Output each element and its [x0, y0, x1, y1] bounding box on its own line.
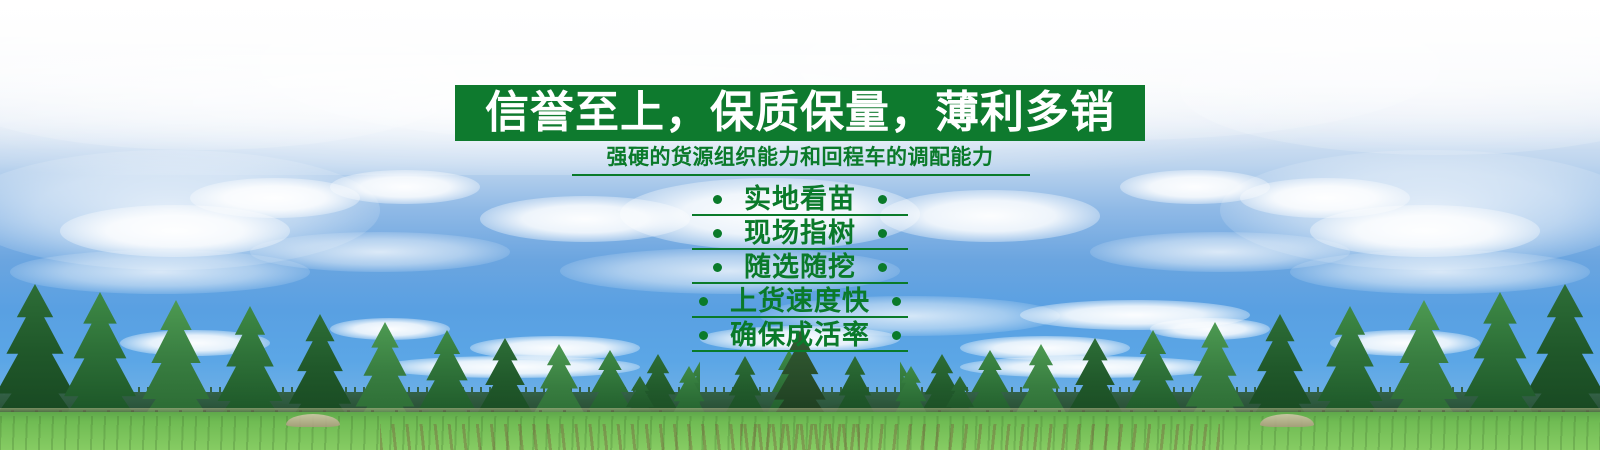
bullet-dot-icon — [699, 331, 708, 340]
bullet-dot-icon — [892, 297, 901, 306]
subtitle-underline — [572, 174, 1030, 176]
feature-label: 确保成活率 — [708, 322, 892, 349]
feature-item: 现场指树 — [0, 216, 1600, 250]
feature-item: 实地看苗 — [0, 182, 1600, 216]
feature-item: 随选随挖 — [0, 250, 1600, 284]
bullet-dot-icon — [878, 195, 887, 204]
banner-subtitle: 强硬的货源组织能力和回程车的调配能力 — [0, 146, 1600, 168]
bullet-dot-icon — [699, 297, 708, 306]
feature-label: 上货速度快 — [708, 288, 892, 315]
feature-item: 确保成活率 — [0, 318, 1600, 352]
bullet-dot-icon — [713, 263, 722, 272]
feature-label: 现场指树 — [722, 220, 878, 247]
promotional-banner: 信誉至上，保质保量，薄利多销 强硬的货源组织能力和回程车的调配能力 实地看苗 现… — [0, 0, 1600, 450]
feature-item: 上货速度快 — [0, 284, 1600, 318]
bullet-dot-icon — [878, 229, 887, 238]
feature-list: 实地看苗 现场指树 随选随挖 上货速度快 — [0, 182, 1600, 352]
bullet-dot-icon — [713, 229, 722, 238]
feature-label: 随选随挖 — [722, 254, 878, 281]
feature-divider — [692, 350, 908, 352]
feature-label: 实地看苗 — [722, 186, 878, 213]
title-banner-bar: 信誉至上，保质保量，薄利多销 — [455, 85, 1145, 141]
bullet-dot-icon — [713, 195, 722, 204]
banner-title: 信誉至上，保质保量，薄利多销 — [485, 91, 1115, 135]
bullet-dot-icon — [892, 331, 901, 340]
banner-content: 信誉至上，保质保量，薄利多销 强硬的货源组织能力和回程车的调配能力 实地看苗 现… — [0, 0, 1600, 450]
bullet-dot-icon — [878, 263, 887, 272]
